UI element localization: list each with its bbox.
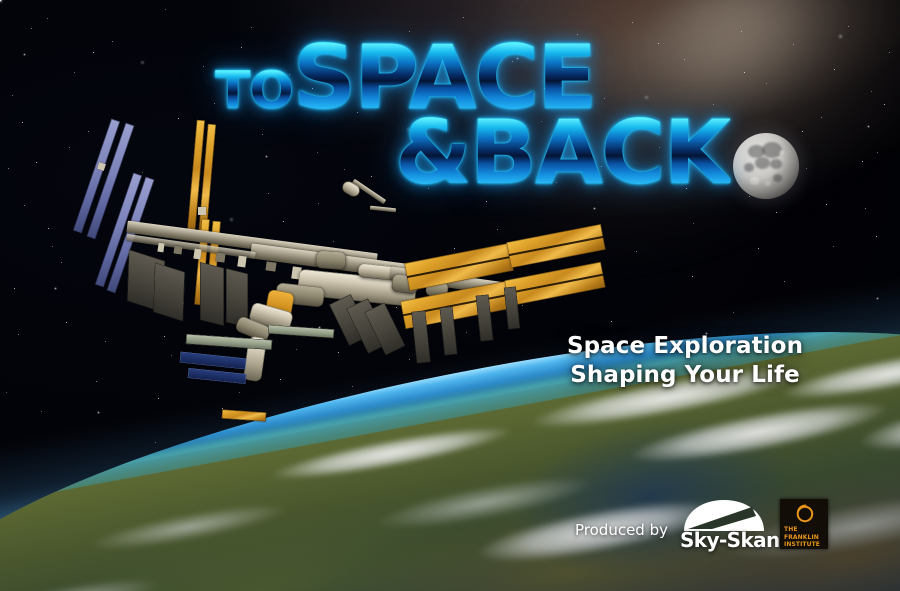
sky-skan-dome-icon [682,498,766,532]
solar-array-russian-2 [188,368,247,384]
solar-array-russian-3 [222,409,267,421]
truss-fitting [215,252,225,262]
truss-fitting [237,255,246,267]
tagline-line-2: Shaping Your Life [520,361,850,390]
franklin-ring-icon [793,503,815,524]
title-word-back: BACK [470,113,730,194]
moon-disc [733,133,799,199]
solar-array-russian-1 [180,352,247,370]
radiator-pale-2 [268,325,334,339]
radiator-port-2 [153,262,185,321]
credits-bar: Produced by Sky-Skan THE FRANKLIN INSTIT… [575,498,828,550]
module-cupola-mount [315,250,346,270]
sky-skan-logo: Sky-Skan [682,498,766,550]
franklin-line-3: INSTITUTE [784,541,828,549]
robotic-arm-segment [370,206,396,213]
array-joint [198,207,206,215]
poster-title: TOSPACE &BACK [0,38,740,194]
poster-canvas: TOSPACE &BACK Space Exploration Shaping … [0,0,900,591]
title-word-ampersand: & [395,113,470,194]
moon-terminator [733,133,799,199]
truss-fitting [193,249,201,260]
franklin-institute-wordmark: THE FRANKLIN INSTITUTE [780,526,828,549]
franklin-line-1: THE [784,526,828,534]
franklin-institute-logo: THE FRANKLIN INSTITUTE [780,499,828,549]
truss-fitting [157,243,164,253]
truss-fitting [173,245,182,254]
produced-by-label: Produced by [575,521,668,539]
radiator-port-3 [200,262,224,326]
poster-tagline: Space Exploration Shaping Your Life [520,332,850,391]
tagline-line-1: Space Exploration [520,332,850,361]
sky-skan-wordmark: Sky-Skan [680,528,768,552]
moon [733,133,799,199]
title-word-to: TO [215,68,293,116]
truss-fitting [265,261,276,271]
franklin-line-2: FRANKLIN [784,534,828,542]
